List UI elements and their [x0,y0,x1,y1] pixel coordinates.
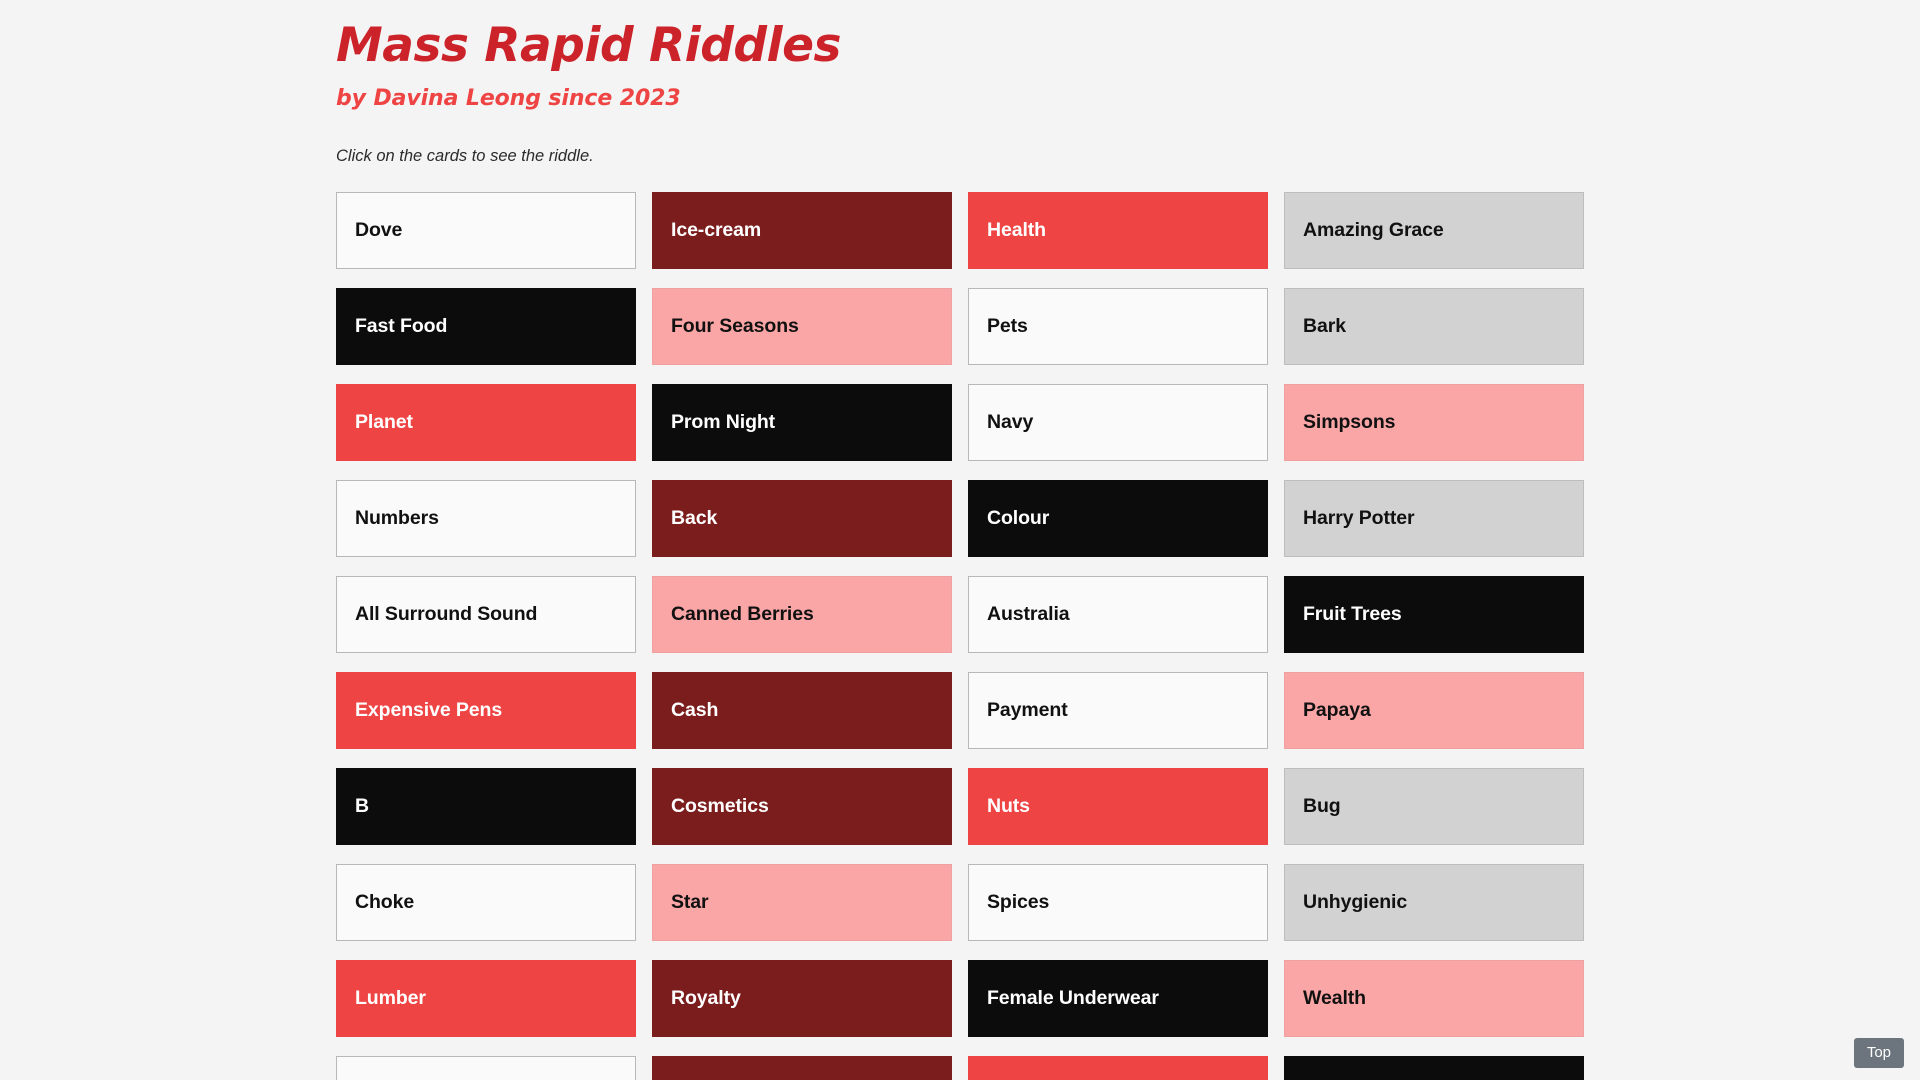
riddle-card-label: Canned Berries [671,603,814,626]
riddle-card-label: Dove [355,219,402,242]
riddle-card[interactable]: Cash [652,672,952,749]
riddle-card-label: Back [671,507,717,530]
riddle-card-label: Navy [987,411,1033,434]
riddle-card[interactable]: Amazing Grace [1284,192,1584,269]
riddle-card-label: Bark [1303,315,1346,338]
riddle-card-label: Planet [355,411,413,434]
riddle-card-label: Payment [987,699,1068,722]
riddle-card-label: Prom Night [671,411,775,434]
riddle-card[interactable]: Fast Food [336,288,636,365]
riddle-card-label: Bug [1303,795,1341,818]
instruction-text: Click on the cards to see the riddle. [336,113,1920,167]
riddle-card[interactable] [1284,1056,1584,1080]
riddle-card[interactable]: Payment [968,672,1268,749]
riddle-card[interactable]: Ice-cream [652,192,952,269]
riddle-card[interactable]: Expensive Pens [336,672,636,749]
riddle-card[interactable]: Prom Night [652,384,952,461]
riddle-card[interactable]: Canned Berries [652,576,952,653]
riddle-card[interactable]: Fruit Trees [1284,576,1584,653]
riddle-card[interactable]: All Surround Sound [336,576,636,653]
riddle-card[interactable]: Papaya [1284,672,1584,749]
riddle-card-label: Nuts [987,795,1030,818]
riddle-card[interactable]: Lumber [336,960,636,1037]
riddle-card[interactable] [652,1056,952,1080]
riddle-card[interactable]: Female Underwear [968,960,1268,1037]
riddle-card[interactable]: Bark [1284,288,1584,365]
riddle-card[interactable]: Royalty [652,960,952,1037]
riddle-card-label: Papaya [1303,699,1371,722]
riddle-card-label: Colour [987,507,1049,530]
riddle-card-label: Star [671,891,709,914]
riddle-card[interactable]: Numbers [336,480,636,557]
riddle-card-label: Fruit Trees [1303,603,1402,626]
riddle-card[interactable]: Dove [336,192,636,269]
riddle-card-label: Unhygienic [1303,891,1407,914]
page-title: Mass Rapid Riddles [336,10,1920,73]
riddle-card-label: Health [987,219,1046,242]
riddle-card[interactable]: Nuts [968,768,1268,845]
riddle-card[interactable]: Australia [968,576,1268,653]
riddle-card-label: Australia [987,603,1070,626]
riddle-card[interactable]: Spices [968,864,1268,941]
riddle-card-label: Amazing Grace [1303,219,1444,242]
riddle-card-label: Harry Potter [1303,507,1415,530]
riddle-card[interactable] [968,1056,1268,1080]
riddle-card-label: Lumber [355,987,426,1010]
riddle-card-label: Royalty [671,987,741,1010]
riddle-card[interactable] [336,1056,636,1080]
riddle-card[interactable]: Unhygienic [1284,864,1584,941]
riddle-card[interactable]: Navy [968,384,1268,461]
riddle-card[interactable]: B [336,768,636,845]
riddle-card-label: Numbers [355,507,439,530]
riddle-card[interactable]: Wealth [1284,960,1584,1037]
riddle-card-label: Female Underwear [987,987,1159,1010]
riddle-card-label: Four Seasons [671,315,799,338]
page-root: Mass Rapid Riddles by Davina Leong since… [0,0,1920,1080]
riddle-card[interactable]: Back [652,480,952,557]
riddle-card[interactable]: Colour [968,480,1268,557]
riddle-card-label: Ice-cream [671,219,761,242]
riddle-card[interactable]: Four Seasons [652,288,952,365]
riddle-card[interactable]: Star [652,864,952,941]
scroll-to-top-button[interactable]: Top [1854,1038,1904,1068]
riddle-card-label: Simpsons [1303,411,1395,434]
riddle-card-label: All Surround Sound [355,603,537,626]
riddle-card-label: Cosmetics [671,795,769,818]
riddle-card[interactable]: Health [968,192,1268,269]
riddle-card-label: Wealth [1303,987,1366,1010]
riddle-card-label: Choke [355,891,414,914]
riddle-card[interactable]: Simpsons [1284,384,1584,461]
riddle-card-label: Expensive Pens [355,699,502,722]
riddle-card[interactable]: Cosmetics [652,768,952,845]
riddle-card-label: B [355,795,369,818]
page-content: Mass Rapid Riddles by Davina Leong since… [0,0,1920,1080]
riddle-card-grid: DoveIce-creamHealthAmazing GraceFast Foo… [336,192,1584,1080]
riddle-card-label: Fast Food [355,315,447,338]
page-subtitle: by Davina Leong since 2023 [336,73,1920,112]
riddle-card[interactable]: Pets [968,288,1268,365]
riddle-card-label: Pets [987,315,1028,338]
riddle-card[interactable]: Choke [336,864,636,941]
riddle-card-label: Spices [987,891,1049,914]
riddle-card[interactable]: Planet [336,384,636,461]
riddle-card[interactable]: Harry Potter [1284,480,1584,557]
riddle-card-label: Cash [671,699,718,722]
riddle-card[interactable]: Bug [1284,768,1584,845]
